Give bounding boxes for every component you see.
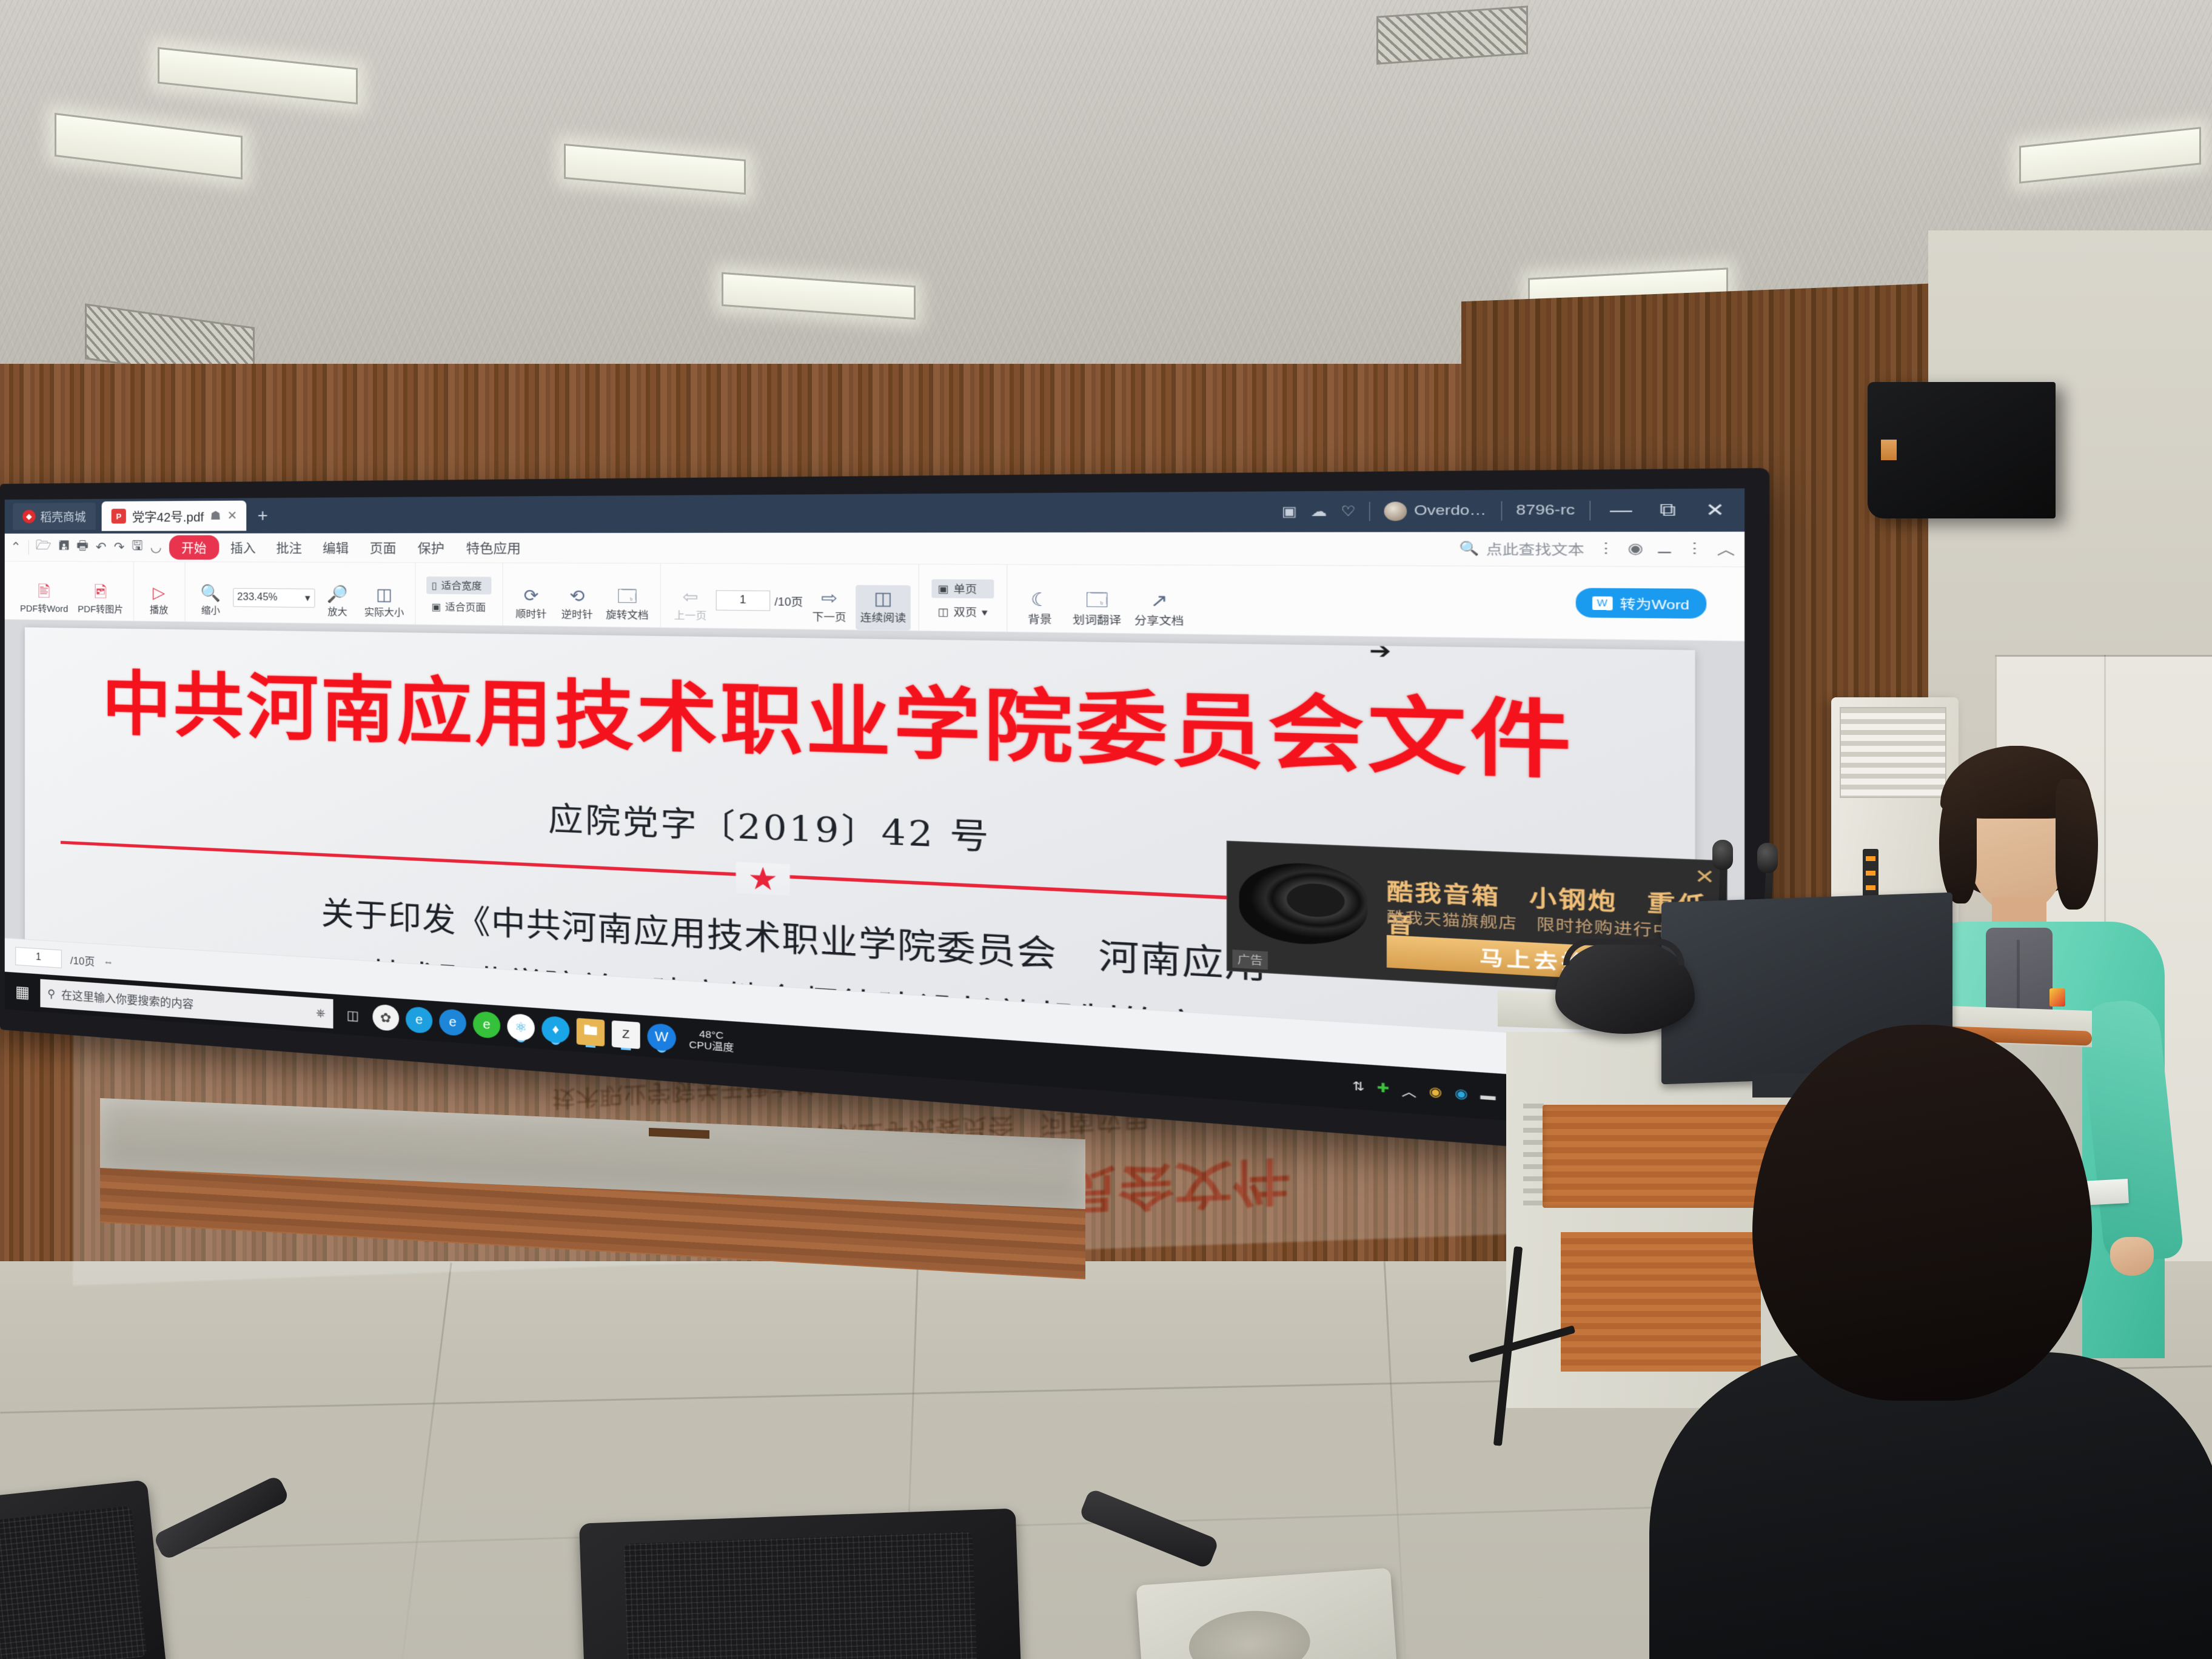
pdf-to-word-icon: 🖹 xyxy=(38,583,50,599)
background-button[interactable]: ☾ 背景 xyxy=(1015,586,1065,632)
task-view-icon[interactable]: ◫ xyxy=(340,1002,366,1029)
cloud-icon[interactable]: ☁ xyxy=(1311,503,1327,520)
find-text-label: 点此查找文本 xyxy=(1486,539,1584,559)
double-page-button[interactable]: ◫ 双页 ▾ xyxy=(931,602,994,622)
translate-icon: 🗔 xyxy=(1085,591,1108,609)
window-titlebar: ◆ 稻壳商城 P 党字42号.pdf ☗ ✕ + ▣ xyxy=(5,488,1744,534)
open-icon[interactable]: 🗁 xyxy=(36,537,52,558)
comment-icon[interactable]: ⚊ xyxy=(1657,540,1672,558)
pdf-to-word-button[interactable]: 🖹 PDF转Word xyxy=(16,580,72,620)
close-icon[interactable]: ✕ xyxy=(1699,499,1731,521)
chevron-up-icon[interactable]: ︿ xyxy=(1717,538,1735,559)
tab-page[interactable]: 页面 xyxy=(361,536,406,560)
wall-seam xyxy=(1995,655,2212,657)
windows-search-placeholder: 在这里输入你要搜索的内容 xyxy=(61,987,193,1012)
wps-writer-icon[interactable]: W xyxy=(647,1023,675,1052)
microphone-icon[interactable]: ⎈ xyxy=(316,1006,325,1020)
arrow-right-icon: ⇨ xyxy=(821,589,837,607)
tab-document[interactable]: P 党字42号.pdf ☗ ✕ xyxy=(102,501,246,531)
status-page-input[interactable] xyxy=(15,947,62,968)
zoom-in-button[interactable]: 🔎 放大 xyxy=(317,581,358,623)
next-page-button[interactable]: ⇨ 下一页 xyxy=(806,585,853,629)
zoom-out-label: 缩小 xyxy=(201,603,220,617)
browser-green-icon[interactable]: e xyxy=(473,1011,500,1039)
fit-page-button[interactable]: ▣ 适合页面 xyxy=(426,598,491,616)
cloud-app-icon[interactable]: ♦ xyxy=(541,1016,569,1044)
word-icon: W xyxy=(1592,596,1613,610)
arrow-left-icon: ⇦ xyxy=(682,588,698,606)
toolbar-group-play: ▷ 播放 xyxy=(133,562,185,622)
audience-head xyxy=(1752,1025,2092,1401)
zoom-in-label: 放大 xyxy=(327,605,347,618)
zoom-level-value: 233.45% xyxy=(237,592,277,603)
share-document-button[interactable]: ↗ 分享文档 xyxy=(1130,587,1189,634)
conference-room-photo: 中共河南应用技术职业学院委员会文件 关于印发《中共河南应用技术职业学院委员会 河… xyxy=(0,0,2212,1659)
status-page-total: /10页 xyxy=(70,951,95,968)
audience-member-foreground xyxy=(1613,1025,2212,1659)
qq-browser-icon[interactable]: ⚛ xyxy=(507,1013,534,1042)
search-icon: 🔍 xyxy=(1459,541,1479,557)
qq-icon[interactable]: ◉ xyxy=(1455,1086,1468,1102)
save-icon[interactable]: 🖪 xyxy=(59,537,70,558)
chevron-down-icon: ▾ xyxy=(305,592,310,605)
floor-seam xyxy=(398,1262,452,1659)
print-icon[interactable]: 🖶 xyxy=(76,537,89,558)
play-button[interactable]: ▷ 播放 xyxy=(140,580,178,621)
convert-to-word-label: 转为Word xyxy=(1620,594,1689,613)
red-star-icon: ★ xyxy=(736,862,790,896)
zoom-level-select[interactable]: 233.45% ▾ xyxy=(233,588,315,608)
internet-explorer-icon[interactable]: e xyxy=(406,1006,432,1034)
app-z-icon[interactable]: Z xyxy=(612,1021,640,1049)
share-icon: ↗ xyxy=(1150,591,1168,610)
chat-icon[interactable]: ▬ xyxy=(1480,1088,1495,1104)
pdf-file-icon: P xyxy=(112,509,126,524)
chair xyxy=(0,1480,167,1659)
rotate-document-button[interactable]: 🗔 旋转文档 xyxy=(602,583,652,627)
wps-icon[interactable]: ✿ xyxy=(372,1004,399,1032)
edge-icon[interactable]: e xyxy=(439,1008,466,1036)
tab-insert[interactable]: 插入 xyxy=(221,536,264,560)
redo-icon[interactable]: ↷ xyxy=(114,540,125,555)
media-icon[interactable]: ◉ xyxy=(1429,1084,1443,1100)
plus-icon[interactable]: + xyxy=(258,506,268,526)
minimize-icon[interactable]: — xyxy=(1605,500,1637,521)
mouse-cursor-icon: ➔ xyxy=(1369,638,1391,665)
save-as-icon[interactable]: 🖫 xyxy=(132,537,142,558)
continuous-scroll-icon: ◫ xyxy=(874,589,893,608)
chevron-up-icon[interactable]: ︿ xyxy=(1402,1081,1417,1100)
tab-docer-mall[interactable]: ◆ 稻壳商城 xyxy=(13,503,95,530)
touch-mode-icon[interactable]: ◡ xyxy=(150,540,162,555)
eye-icon[interactable]: ◉ xyxy=(1628,540,1644,558)
chair-mesh xyxy=(623,1532,977,1659)
translate-button[interactable]: 🗔 划词翻译 xyxy=(1068,586,1126,633)
fit-page-label: 适合页面 xyxy=(445,600,486,614)
background-label: 背景 xyxy=(1028,611,1051,626)
heart-icon[interactable]: ♡ xyxy=(1341,503,1355,520)
account-button[interactable]: Overdo… xyxy=(1384,501,1486,521)
pdf-to-word-label: PDF转Word xyxy=(20,602,68,615)
page-total-label: /10页 xyxy=(774,592,803,609)
next-page-label: 下一页 xyxy=(813,609,846,624)
account-name: Overdo… xyxy=(1414,503,1486,519)
single-page-icon: ▣ xyxy=(938,582,949,595)
moon-icon: ☾ xyxy=(1031,590,1050,609)
wps-pdf-window: ◆ 稻壳商城 P 党字42号.pdf ☗ ✕ + ▣ xyxy=(5,488,1744,1138)
toolbar-group-convert: 🖹 PDF转Word 🖻 PDF转图片 xyxy=(10,561,133,621)
screen-surface: ◆ 稻壳商城 P 党字42号.pdf ☗ ✕ + ▣ xyxy=(5,488,1744,1138)
chair xyxy=(579,1509,1022,1659)
toolbar-group-navigate: ⇦ 上一页 /10页 ⇨ 下一页 xyxy=(660,564,919,631)
prev-page-label: 上一页 xyxy=(674,608,707,623)
projection-screen: ◆ 稻壳商城 P 党字42号.pdf ☗ ✕ + ▣ xyxy=(0,484,1425,1030)
avatar xyxy=(1384,501,1407,521)
convert-to-word-button[interactable]: W 转为Word xyxy=(1575,588,1706,619)
rotate-doc-icon: 🗔 xyxy=(617,588,637,605)
chevron-down-icon[interactable]: ▾ xyxy=(982,606,988,618)
chair-mesh xyxy=(0,1506,147,1659)
play-label: 播放 xyxy=(150,603,169,616)
page-number-group: /10页 xyxy=(716,590,803,611)
network-icon[interactable]: ⇅ xyxy=(1352,1079,1364,1094)
toolbar-group-fit: ▯ 适合宽度 ▣ 适合页面 xyxy=(415,563,502,625)
rotate-ccw-button[interactable]: ⟲ 逆时针 xyxy=(555,583,599,627)
find-text-button[interactable]: 🔍 点此查找文本 xyxy=(1459,539,1584,559)
rotate-cw-icon: ⟳ xyxy=(524,587,539,604)
single-page-button[interactable]: ▣ 单页 xyxy=(931,579,994,598)
microphone-head-icon xyxy=(1757,843,1778,873)
close-icon[interactable]: ✕ xyxy=(227,509,238,523)
tab-features[interactable]: 特色应用 xyxy=(457,535,531,560)
tab-annotate[interactable]: 批注 xyxy=(267,536,311,560)
toolbar-group-rotate: ⟳ 顺时针 ⟲ 逆时针 🗔 旋转文档 xyxy=(502,563,660,628)
speaker-led-icon xyxy=(1881,440,1897,460)
document-title: 中共河南应用技术职业学院委员会文件 xyxy=(25,666,1695,790)
continuous-scroll-label: 连续阅读 xyxy=(860,610,907,625)
pin-icon[interactable]: ☗ xyxy=(210,509,221,523)
fit-width-icon: ▯ xyxy=(432,580,437,591)
screens-icon[interactable]: ▣ xyxy=(1282,503,1297,520)
search-icon: ⚲ xyxy=(47,987,55,1000)
more-vertical-icon[interactable]: ⋮ xyxy=(1686,540,1704,558)
single-page-label: 单页 xyxy=(954,581,977,596)
microphone-head-icon xyxy=(1712,840,1733,870)
zoom-out-icon: 🔍 xyxy=(201,585,221,601)
play-icon: ▷ xyxy=(153,585,165,601)
pdf-to-image-icon: 🖻 xyxy=(94,584,107,600)
more-vertical-icon[interactable]: ⋮ xyxy=(1597,540,1615,558)
rotate-cw-button[interactable]: ⟳ 顺时针 xyxy=(510,583,553,626)
windows-start-icon[interactable]: ▦ xyxy=(10,979,34,1005)
tab-start[interactable]: 开始 xyxy=(169,535,219,560)
cpu-temperature-widget: 48°C CPU温度 xyxy=(689,1028,734,1054)
rotate-ccw-label: 逆时针 xyxy=(561,607,593,621)
folder-icon[interactable]: 🖿 xyxy=(577,1018,605,1047)
toolbar-group-zoom: 🔍 缩小 233.45% ▾ 🔎 放大 xyxy=(184,562,415,624)
shield-green-icon[interactable]: ✚ xyxy=(1377,1081,1390,1096)
docer-icon: ◆ xyxy=(22,510,36,523)
speaker-product-image xyxy=(1239,861,1368,948)
account-id: 8796-rc xyxy=(1516,502,1575,519)
toolbar-group-view: ▣ 单页 ◫ 双页 ▾ xyxy=(919,565,1007,632)
zoom-out-button[interactable]: 🔍 缩小 xyxy=(191,581,230,622)
resize-icon[interactable]: ⇔ xyxy=(103,955,113,968)
continuous-scroll-button[interactable]: ◫ 连续阅读 xyxy=(856,585,911,631)
fit-width-label: 适合宽度 xyxy=(441,578,481,592)
quick-access-toolbar: ⌃ 🗁 🖪 🖶 ↶ ↷ 🖫 ◡ xyxy=(10,537,166,558)
ad-label: 广告 xyxy=(1232,950,1267,970)
double-page-label: 双页 xyxy=(954,605,977,620)
tab-document-label: 党字42号.pdf xyxy=(132,507,204,525)
restore-icon[interactable]: ⧉ xyxy=(1652,500,1684,521)
page-number-input[interactable] xyxy=(716,590,770,611)
tablet-print-graphic xyxy=(1187,1607,1312,1659)
actual-size-button[interactable]: ◫ 实际大小 xyxy=(360,582,408,625)
actual-size-icon: ◫ xyxy=(376,586,392,603)
lectern-logo xyxy=(1523,1104,1544,1207)
cpu-temp-label: CPU温度 xyxy=(689,1039,734,1054)
prev-page-button[interactable]: ⇦ 上一页 xyxy=(668,584,713,628)
double-page-icon: ◫ xyxy=(938,605,949,618)
tab-edit[interactable]: 编辑 xyxy=(313,536,358,560)
rotate-ccw-icon: ⟲ xyxy=(569,587,585,605)
actual-size-label: 实际大小 xyxy=(364,605,404,619)
tab-docer-mall-label: 稻壳商城 xyxy=(40,508,85,525)
pdf-to-image-button[interactable]: 🖻 PDF转图片 xyxy=(74,580,127,621)
rotate-cw-label: 顺时针 xyxy=(515,606,546,620)
close-icon[interactable]: ✕ xyxy=(1694,865,1715,890)
undo-icon[interactable]: ↶ xyxy=(96,540,107,555)
wall-speaker xyxy=(1868,382,2056,518)
vr-headset-strap xyxy=(1563,939,1684,965)
presenter-hair-right xyxy=(2056,779,2098,910)
zoom-in-icon: 🔎 xyxy=(327,586,348,603)
pdf-to-image-label: PDF转图片 xyxy=(78,602,123,615)
chevron-down-icon[interactable]: ⌃ xyxy=(10,540,21,555)
rotate-doc-label: 旋转文档 xyxy=(606,608,648,622)
toolbar-group-misc: ☾ 背景 🗔 划词翻译 ↗ 分享文档 xyxy=(1007,565,1197,634)
translate-label: 划词翻译 xyxy=(1073,612,1121,627)
fit-page-icon: ▣ xyxy=(432,601,441,612)
tab-protect[interactable]: 保护 xyxy=(408,535,454,560)
fit-width-button[interactable]: ▯ 适合宽度 xyxy=(426,577,491,595)
presenter-hair-left xyxy=(1939,782,1977,903)
share-label: 分享文档 xyxy=(1134,612,1184,628)
